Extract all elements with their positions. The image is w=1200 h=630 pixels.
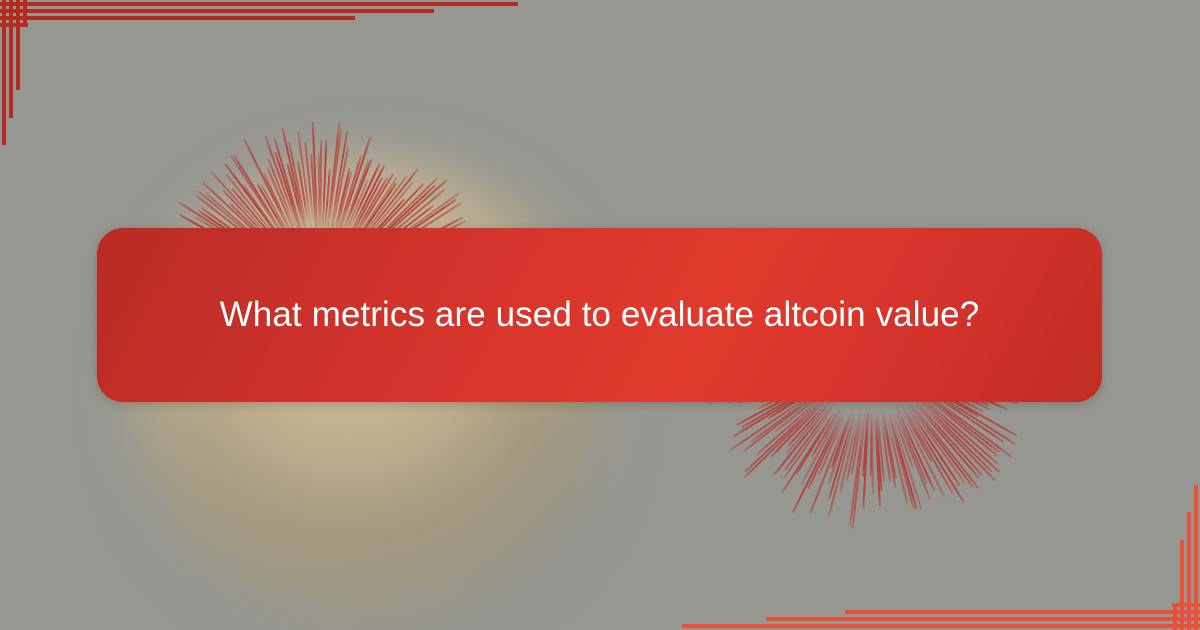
question-text: What metrics are used to evaluate altcoi… — [220, 287, 980, 344]
social-card-canvas: What metrics are used to evaluate altcoi… — [0, 0, 1200, 630]
question-banner: What metrics are used to evaluate altcoi… — [97, 228, 1102, 402]
